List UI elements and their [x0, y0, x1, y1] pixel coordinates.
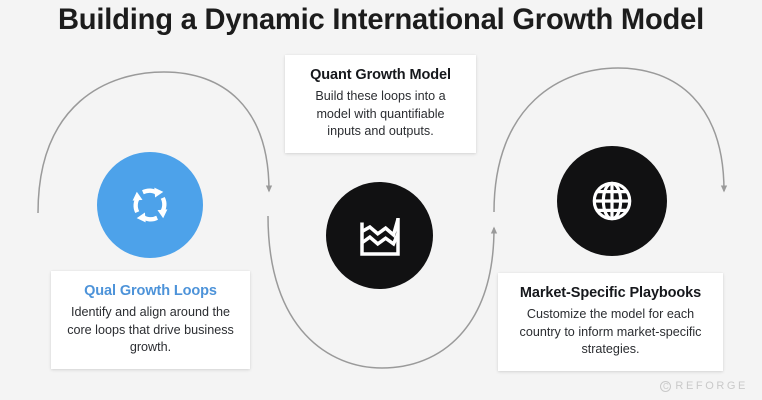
card-body-qual-growth-loops: Identify and align around the core loops… [65, 304, 236, 357]
area-chart-icon [353, 209, 407, 263]
diagram-canvas: Building a Dynamic International Growth … [0, 0, 762, 400]
copyright-icon: C [660, 381, 671, 392]
node-icon-qual-growth-loops[interactable] [97, 152, 203, 258]
brand-label: REFORGE [675, 380, 748, 392]
node-icon-market-specific-playbooks[interactable] [557, 146, 667, 256]
card-qual-growth-loops[interactable]: Qual Growth Loops Identify and align aro… [51, 271, 250, 369]
card-body-market-specific-playbooks: Customize the model for each country to … [512, 306, 709, 359]
globe-icon [589, 178, 635, 224]
card-body-quant-growth-model: Build these loops into a model with quan… [299, 88, 462, 141]
card-title-qual-growth-loops: Qual Growth Loops [65, 281, 236, 301]
reforge-watermark: C REFORGE [660, 380, 748, 392]
page-title: Building a Dynamic International Growth … [11, 3, 750, 37]
card-title-market-specific-playbooks: Market-Specific Playbooks [512, 283, 709, 303]
card-title-quant-growth-model: Quant Growth Model [299, 65, 462, 85]
card-quant-growth-model[interactable]: Quant Growth Model Build these loops int… [285, 55, 476, 153]
card-market-specific-playbooks[interactable]: Market-Specific Playbooks Customize the … [498, 273, 723, 371]
cycle-arrows-icon [121, 176, 179, 234]
node-icon-quant-growth-model[interactable] [326, 182, 433, 289]
